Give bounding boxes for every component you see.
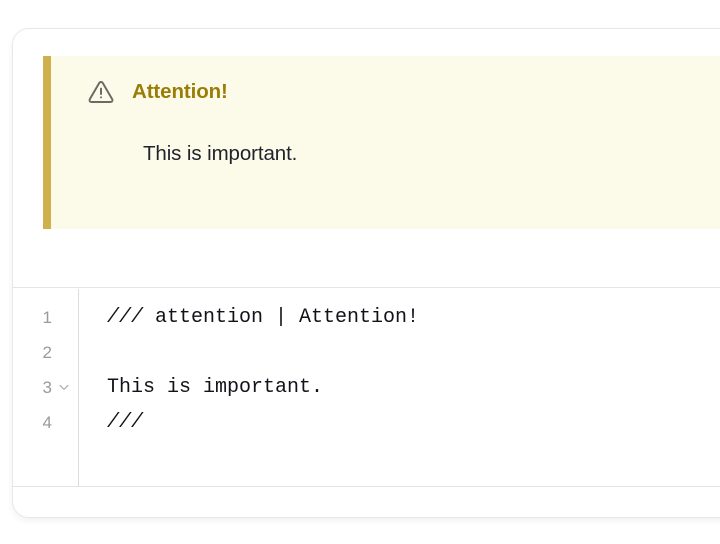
preview-and-source-card: Attention! This is important. 1 2 3 xyxy=(12,28,720,518)
warning-triangle-icon xyxy=(87,78,115,106)
card-footer-strip xyxy=(13,488,720,518)
admonition-header: Attention! xyxy=(87,78,228,106)
gutter-row: 4 xyxy=(13,405,78,440)
gutter-row: 3 xyxy=(13,370,78,405)
admonition-title: Attention! xyxy=(132,80,228,104)
fence-token: /// xyxy=(107,306,143,329)
code-line[interactable] xyxy=(80,335,720,370)
line-number: 1 xyxy=(43,300,52,335)
line-number: 4 xyxy=(43,405,52,440)
chevron-down-icon[interactable] xyxy=(58,370,70,405)
markdown-preview-pane: Attention! This is important. xyxy=(13,29,720,288)
line-number: 3 xyxy=(43,370,52,405)
gutter-row: 1 xyxy=(13,300,78,335)
code-line-text: attention | Attention! xyxy=(143,306,419,329)
screenshot-root: Attention! This is important. 1 2 3 xyxy=(0,0,720,544)
fence-token: /// xyxy=(107,411,143,434)
source-code-editor[interactable]: 1 2 3 4 /// attention xyxy=(13,289,720,487)
code-text-area[interactable]: /// attention | Attention! This is impor… xyxy=(80,289,720,487)
code-line[interactable]: This is important. xyxy=(80,370,720,405)
admonition-body-text: This is important. xyxy=(143,142,297,166)
editor-gutter[interactable]: 1 2 3 4 xyxy=(13,289,79,487)
code-line-text: This is important. xyxy=(107,376,323,399)
gutter-row: 2 xyxy=(13,335,78,370)
attention-admonition: Attention! This is important. xyxy=(43,56,720,229)
line-number: 2 xyxy=(43,335,52,370)
code-line[interactable]: /// xyxy=(80,405,720,440)
code-line[interactable]: /// attention | Attention! xyxy=(80,300,720,335)
